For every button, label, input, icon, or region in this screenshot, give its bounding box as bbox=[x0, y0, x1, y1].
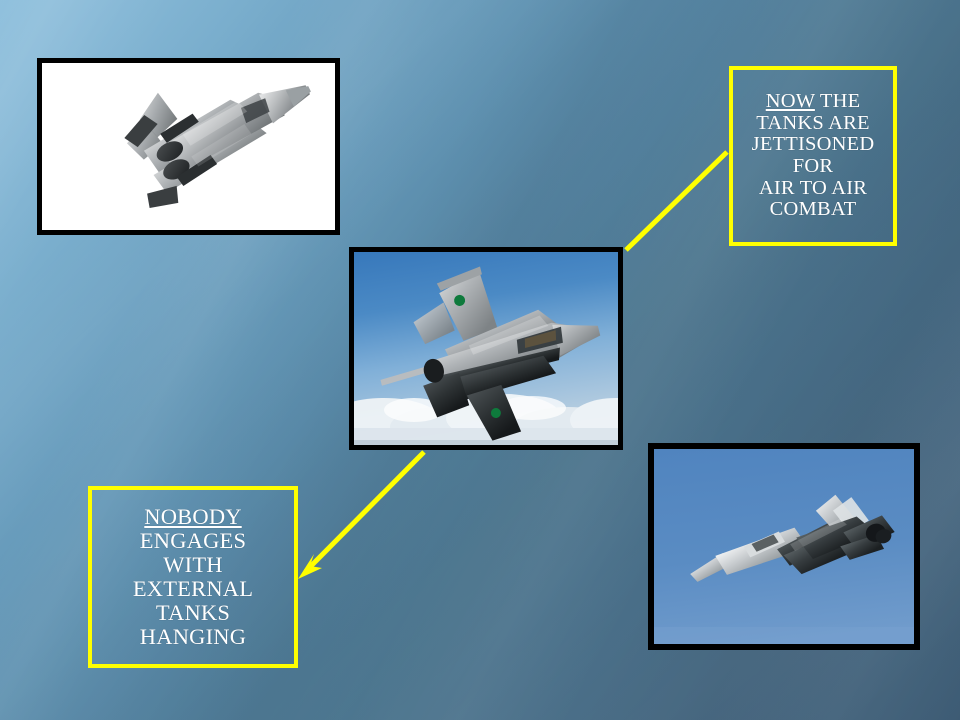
photo-f16-falcon[interactable] bbox=[349, 247, 623, 450]
callout-jettison-line-1: NOW THE bbox=[766, 91, 861, 113]
slide-canvas: NOW THE TANKS ARE JETTISONED FOR AIR TO … bbox=[0, 0, 960, 720]
callout-nobody-line-1: NOBODY bbox=[144, 505, 241, 529]
callout-nobody-line-3: WITH bbox=[163, 553, 223, 577]
callout-jettison-line-6: COMBAT bbox=[770, 199, 857, 221]
callout-jettison-line-2: TANKS ARE bbox=[756, 113, 870, 135]
photo-f15-eagle[interactable] bbox=[37, 58, 340, 235]
callout-nobody-line-2: ENGAGES bbox=[140, 529, 246, 553]
callout-nobody-line-5: TANKS bbox=[156, 601, 230, 625]
f15-eagle-illustration bbox=[42, 63, 335, 230]
photo-fa18-hornet[interactable] bbox=[648, 443, 920, 650]
callout-nobody-line-6: HANGING bbox=[140, 625, 246, 649]
callout-nobody-engages[interactable]: NOBODY ENGAGES WITH EXTERNAL TANKS HANGI… bbox=[88, 486, 298, 668]
photo-f15-inner bbox=[42, 63, 335, 230]
f16-falcon-illustration bbox=[354, 252, 618, 445]
callout-jettison-line-3: JETTISONED bbox=[752, 134, 875, 156]
callout-jettison-line-5: AIR TO AIR bbox=[759, 178, 867, 200]
fa18-hornet-illustration bbox=[654, 449, 914, 644]
photo-fa18-inner bbox=[654, 449, 914, 644]
callout-jettison-emphasis: NOW bbox=[766, 90, 815, 112]
photo-f16-inner bbox=[354, 252, 618, 445]
callout-nobody-line-4: EXTERNAL bbox=[133, 577, 253, 601]
callout-jettison-line-4: FOR bbox=[793, 156, 833, 178]
callout-jettison-line-1-suffix: THE bbox=[815, 90, 860, 112]
callout-jettison-tanks[interactable]: NOW THE TANKS ARE JETTISONED FOR AIR TO … bbox=[729, 66, 897, 246]
